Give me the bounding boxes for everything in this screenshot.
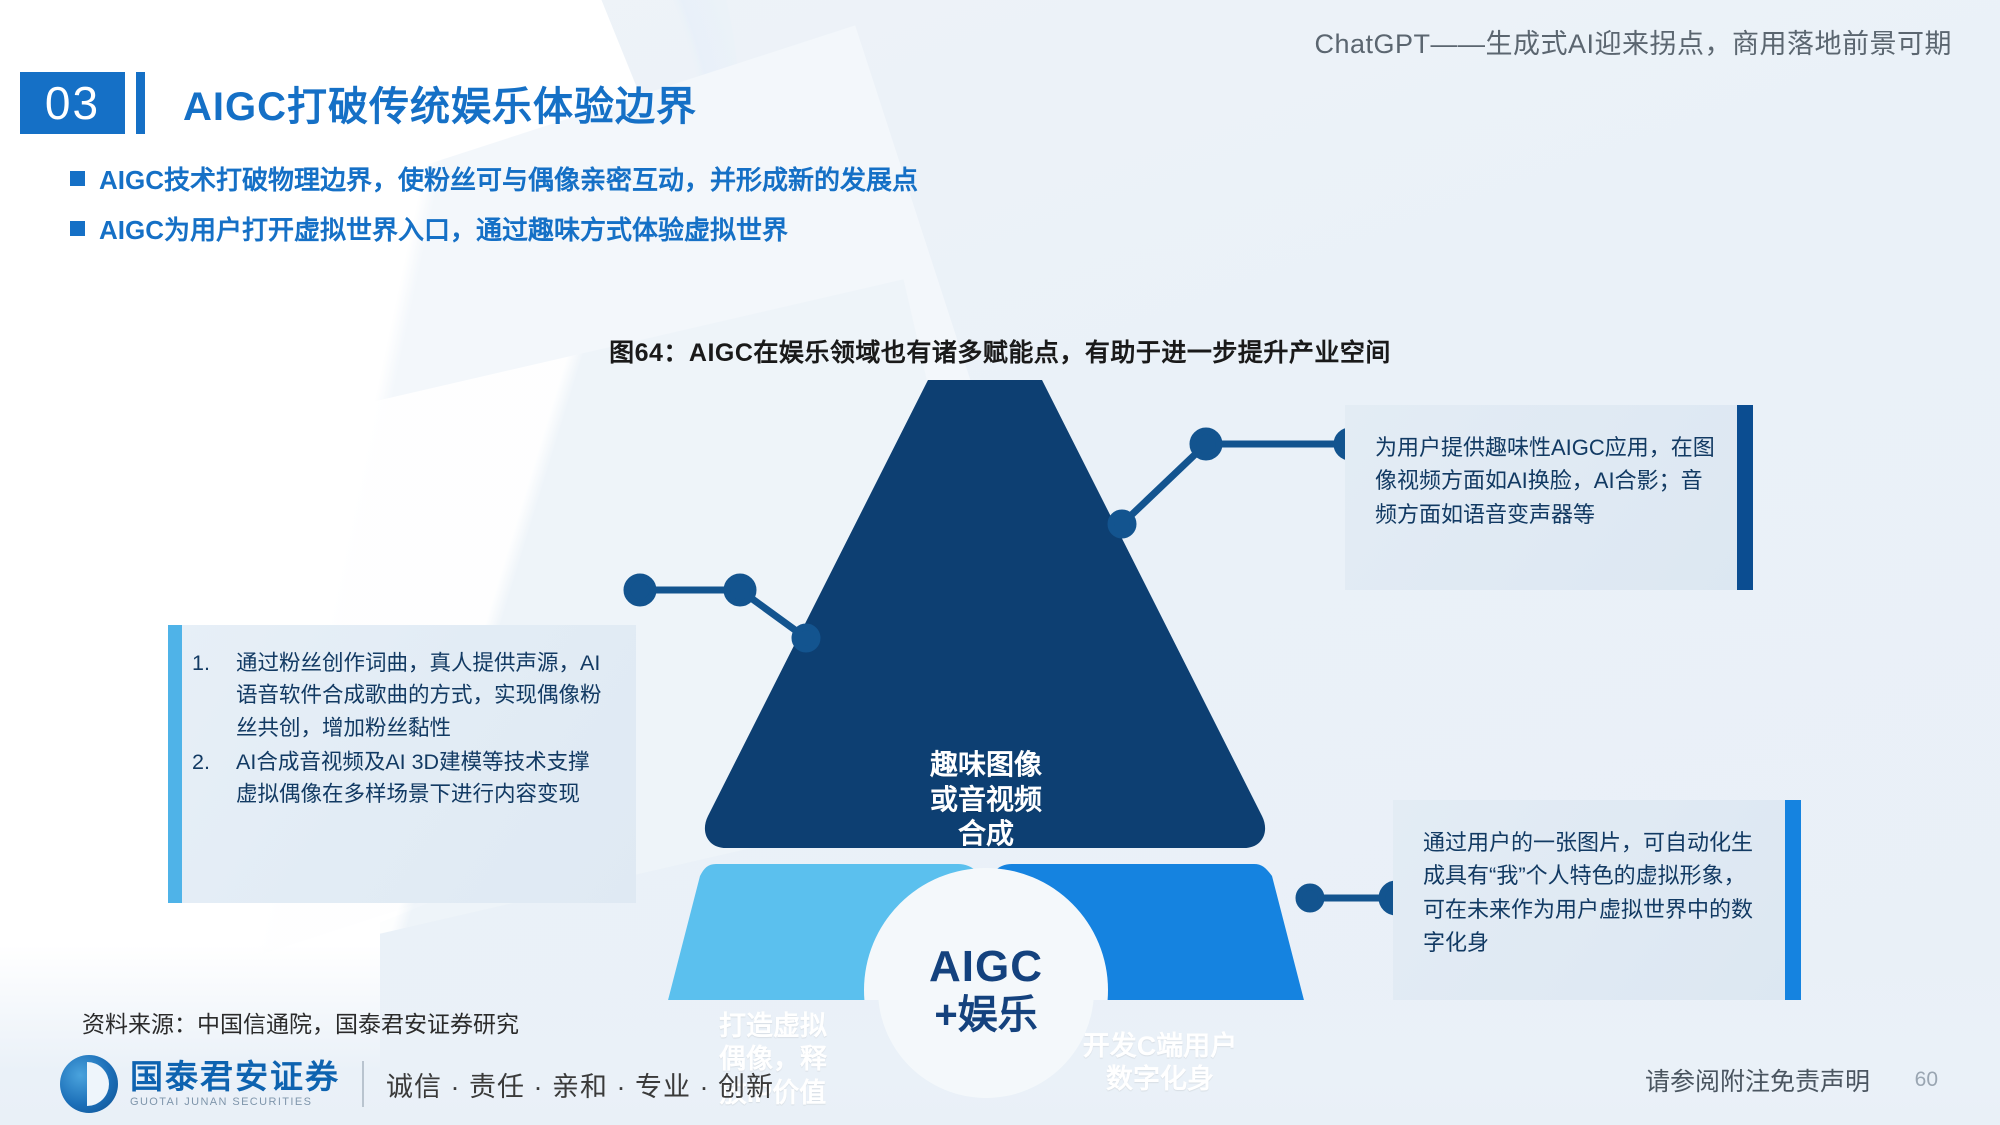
bullet-item-2: AIGC为用户打开虚拟世界入口，通过趣味方式体验虚拟世界: [70, 210, 788, 247]
footer-divider: [362, 1061, 364, 1107]
callout-left-list: 通过粉丝创作词曲，真人提供声源，AI语音软件合成歌曲的方式，实现偶像粉丝共创，增…: [168, 625, 636, 903]
header-title: ChatGPT——生成式AI迎来拐点，商用落地前景可期: [1314, 22, 1952, 61]
company-wordmark: 国泰君安证券 GUOTAI JUNAN SECURITIES: [130, 1060, 340, 1108]
figure-title: 图64：AIGC在娱乐领域也有诸多赋能点，有助于进一步提升产业空间: [0, 333, 2000, 369]
callout-top-right: 为用户提供趣味性AIGC应用，在图像视频方面如AI换脸，AI合影；音频方面如语音…: [1345, 405, 1753, 590]
disclaimer-note: 请参阅附注免责声明: [1645, 1062, 1870, 1098]
company-slogan: 诚信 · 责任 · 亲和 · 专业 · 创新: [386, 1065, 774, 1104]
segment-label-top: 趣味图像 或音视频 合成: [876, 748, 1096, 852]
diagram-hub: AIGC +娱乐: [878, 882, 1094, 1098]
callout-left-ordered-list: 通过粉丝创作词曲，真人提供声源，AI语音软件合成歌曲的方式，实现偶像粉丝共创，增…: [168, 625, 636, 810]
hub-line-2: +娱乐: [934, 993, 1037, 1037]
hub-line-1: AIGC: [929, 943, 1043, 991]
page-title: AIGC打破传统娱乐体验边界: [183, 72, 697, 134]
list-item: AI合成音视频及AI 3D建模等技术支撑虚拟偶像在多样场景下进行内容变现: [236, 746, 610, 811]
callout-accent-bar: [1737, 405, 1753, 590]
square-bullet-icon: [70, 221, 85, 236]
callout-accent-bar: [1785, 800, 1801, 1000]
page-number: 60: [1915, 1068, 1938, 1092]
callout-text: 为用户提供趣味性AIGC应用，在图像视频方面如AI换脸，AI合影；音频方面如语音…: [1345, 405, 1753, 557]
square-bullet-icon: [70, 171, 85, 186]
callout-bottom-right: 通过用户的一张图片，可自动化生成具有“我”个人特色的虚拟形象，可在未来作为用户虚…: [1393, 800, 1801, 1000]
section-divider-bar: [136, 72, 145, 134]
company-name-cn: 国泰君安证券: [130, 1060, 340, 1093]
slide-root: ChatGPT——生成式AI迎来拐点，商用落地前景可期 03 AIGC打破传统娱…: [0, 0, 2000, 1125]
company-name-en: GUOTAI JUNAN SECURITIES: [130, 1096, 340, 1108]
company-logo-icon: [60, 1055, 118, 1113]
connector-left: [627, 577, 817, 649]
source-note: 资料来源：中国信通院，国泰君安证券研究: [82, 1005, 519, 1039]
callout-text: 通过用户的一张图片，可自动化生成具有“我”个人特色的虚拟形象，可在未来作为用户虚…: [1393, 800, 1801, 986]
bullet-text: AIGC为用户打开虚拟世界入口，通过趣味方式体验虚拟世界: [99, 210, 788, 247]
connector-top-right: [1111, 431, 1363, 535]
bullet-item-1: AIGC技术打破物理边界，使粉丝可与偶像亲密互动，并形成新的发展点: [70, 160, 918, 197]
list-item: 通过粉丝创作词曲，真人提供声源，AI语音软件合成歌曲的方式，实现偶像粉丝共创，增…: [236, 647, 610, 744]
callout-accent-bar: [168, 625, 182, 903]
bullet-text: AIGC技术打破物理边界，使粉丝可与偶像亲密互动，并形成新的发展点: [99, 160, 918, 197]
section-number: 03: [20, 72, 125, 134]
footer-brand: 国泰君安证券 GUOTAI JUNAN SECURITIES 诚信 · 责任 ·…: [60, 1055, 774, 1113]
